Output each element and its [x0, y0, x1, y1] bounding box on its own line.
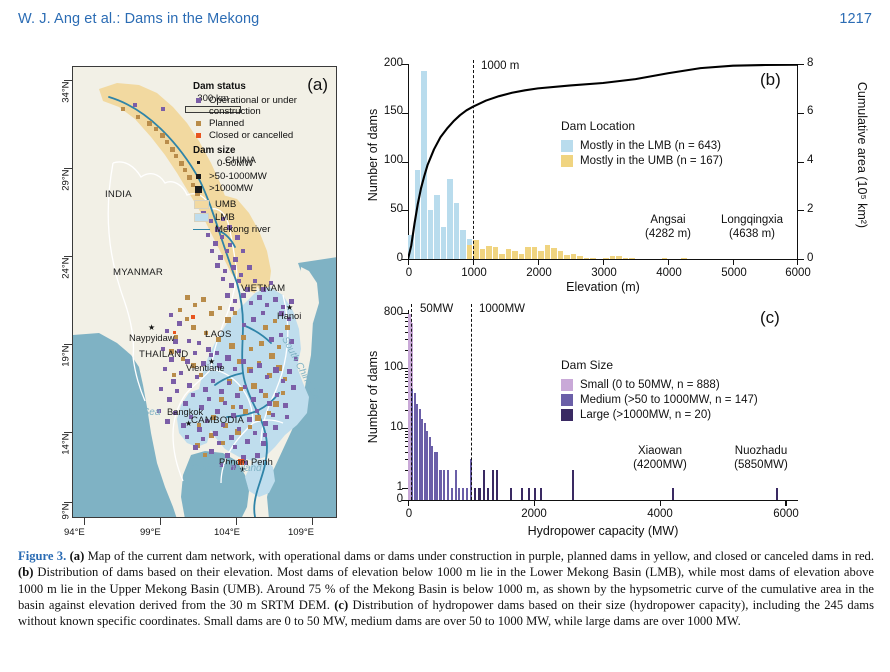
panel-b-ytick-100: 100: [373, 154, 403, 166]
histogram-bar: [572, 470, 574, 500]
panel-c-legend-item-large[interactable]: Large (>1000MW, n = 20): [561, 408, 758, 423]
map-lon-tick-99: 99°E: [140, 527, 161, 538]
annotation-value: (4200MW): [633, 459, 687, 471]
legend-label: Mostly in the UMB (n = 167): [580, 154, 723, 169]
histogram-bar: [487, 488, 489, 500]
histogram-bar: [451, 488, 453, 500]
map-lat-tick-mark: [64, 256, 72, 257]
map-lon-tick-94: 94°E: [64, 527, 85, 538]
panel-b-xtick-2000: 2000: [518, 267, 560, 279]
legend-item-closed[interactable]: Closed or cancelled: [193, 130, 337, 141]
panel-b-y2tick: [798, 162, 804, 163]
map-lon-tick-109: 109°E: [288, 527, 314, 538]
panel-b-plot-area[interactable]: 0 50 100 150 200 0 2 4 6 8 0 1000: [408, 64, 798, 259]
panel-b-annotation-angsai: Angsai (4282 m): [626, 213, 710, 242]
panel-c-refline-label-50mw: 50MW: [420, 302, 453, 316]
panel-b-y2tick: [798, 259, 804, 260]
panel-c-legend-item-medium[interactable]: Medium (>50 to 1000MW, n = 147): [561, 393, 758, 408]
panel-b-tag: (b): [760, 70, 781, 90]
legend-item-lmb[interactable]: LMB: [193, 212, 337, 223]
panel-c-ytick-1: 1: [373, 481, 403, 493]
panel-c-xtick-6000: 6000: [765, 508, 807, 520]
panel-b-ytick-150: 150: [373, 105, 403, 117]
panel-b-xtick-0: 0: [394, 267, 424, 279]
legend-label: Planned: [209, 118, 337, 129]
legend-label: >1000MW: [209, 183, 337, 194]
river-line-icon: [193, 224, 210, 230]
legend-label: UMB: [215, 199, 337, 210]
map-canvas[interactable]: 300 km Dam status Operational or under c…: [72, 66, 337, 518]
panel-b-legend-item-lmb[interactable]: Mostly in the LMB (n = 643): [561, 139, 723, 154]
legend-item-planned[interactable]: Planned: [193, 118, 337, 129]
histogram-bar: [436, 452, 438, 500]
panel-c-ytick-10: 10: [373, 421, 403, 433]
map-lon-tick-mark: [312, 518, 313, 525]
map-lat-tick-mark: [64, 168, 72, 169]
panel-b-y2tick: [798, 64, 804, 65]
city-marker-naypyidaw: ★: [148, 323, 155, 332]
panel-c-xtick: [408, 500, 409, 506]
city-marker-bangkok: ★: [185, 419, 192, 428]
panel-b-y2tick-4: 4: [807, 154, 813, 166]
histogram-bar: [528, 488, 530, 500]
panel-c-legend: Small (0 to 50MW, n = 888) Medium (>50 t…: [561, 378, 758, 423]
panel-c-tag: (c): [760, 308, 780, 328]
histogram-bar: [492, 470, 494, 500]
panel-c-refline-label-1000mw: 1000MW: [479, 302, 525, 316]
panel-c-xtick: [660, 500, 661, 506]
figure-3: 34°N 29°N 24°N 19°N 14°N 9°N 94°E 99°E 1…: [0, 38, 890, 543]
panel-b-annotation-longqingxia: Longqingxia (4638 m): [704, 213, 800, 242]
panel-b-xtick-4000: 4000: [648, 267, 690, 279]
histogram-bar: [458, 488, 460, 500]
panel-b-elevation-chart: Number of dams Cumulative area (10⁵ km²)…: [352, 52, 880, 302]
map-lon-tick-104: 104°E: [214, 527, 240, 538]
histogram-bar: [474, 488, 476, 500]
panel-c-annotation-xiaowan: Xiaowan (4200MW): [620, 444, 700, 473]
legend-item-mekong-river[interactable]: Mekong river: [193, 224, 337, 235]
histogram-bar: [672, 488, 674, 500]
caption-body: (a) Map of the current dam network, with…: [18, 549, 874, 628]
histogram-bar: [521, 488, 523, 500]
panel-b-y2tick-8: 8: [807, 57, 813, 69]
small-square-icon: [193, 158, 204, 164]
histogram-bar: [455, 470, 457, 500]
legend-label: Closed or cancelled: [209, 130, 337, 141]
panel-b-y2label: Cumulative area (10⁵ km²): [855, 65, 869, 245]
lmb-band-icon: [193, 212, 210, 222]
histogram-bar: [439, 470, 441, 500]
histogram-bar: [776, 488, 778, 500]
panel-c-xtick-4000: 4000: [639, 508, 681, 520]
running-head-title: W. J. Ang et al.: Dams in the Mekong: [18, 11, 259, 27]
panel-c-annotation-nuozhadu: Nuozhadu (5850MW): [718, 444, 804, 473]
panel-c-refline-1000mw: [471, 304, 472, 500]
legend-label: Operational or under construction: [209, 95, 337, 118]
panel-b-legend: Mostly in the LMB (n = 643) Mostly in th…: [561, 139, 723, 169]
panel-c-ytick-0: 0: [373, 493, 403, 505]
annotation-value: (4282 m): [645, 228, 691, 240]
panel-c-xaxis: [408, 500, 798, 501]
panel-b-ytick-200: 200: [373, 57, 403, 69]
histogram-bar: [483, 470, 485, 500]
caption-figure-number: Figure 3.: [18, 549, 66, 563]
map-legend: Dam status Operational or under construc…: [193, 81, 337, 236]
panel-c-refline-50mw: [411, 304, 412, 500]
map-label-vietnam: VIETNAM: [241, 283, 285, 294]
panel-c-xtick-0: 0: [394, 508, 424, 520]
panel-b-y2tick-6: 6: [807, 105, 813, 117]
legend-label: >50-1000MW: [209, 171, 337, 182]
map-lat-tick-34: 34°N: [61, 82, 72, 122]
panel-b-xtick-3000: 3000: [583, 267, 625, 279]
map-lat-tick-29: 29°N: [61, 170, 72, 210]
panel-b-y2tick: [798, 210, 804, 211]
map-lat-tick-mark: [64, 502, 72, 503]
purple-square-icon: [193, 95, 204, 103]
panel-a-tag: (a): [307, 75, 328, 95]
histogram-bar: [462, 488, 464, 500]
panel-b-refline-label: 1000 m: [481, 59, 519, 73]
panel-c-plot-area[interactable]: 0 1 10 100 800 0 2000 4000 6000 50MW 10: [408, 310, 798, 500]
map-label-myanmar: MYANMAR: [113, 267, 163, 278]
map-lon-tick-mark: [84, 518, 85, 525]
histogram-bar: [443, 470, 445, 500]
panel-c-xtick: [785, 500, 786, 506]
large-square-icon: [193, 183, 204, 193]
legend-label: LMB: [215, 212, 337, 223]
map-lon-tick-mark: [160, 518, 161, 525]
legend-title-dam-size: Dam size: [193, 145, 337, 157]
panel-c-xtick: [534, 500, 535, 506]
legend-item-operational[interactable]: Operational or under construction: [193, 95, 337, 118]
legend-item-umb[interactable]: UMB: [193, 199, 337, 210]
panel-b-ytick-50: 50: [373, 203, 403, 215]
map-label-thailand: THAILAND: [139, 349, 188, 360]
red-square-icon: [193, 130, 204, 138]
map-label-vientiane: Vientiane: [186, 363, 225, 373]
histogram-bar: [478, 488, 480, 500]
panel-c-xtick-2000: 2000: [513, 508, 555, 520]
panel-b-ytick-0: 0: [373, 252, 403, 264]
annotation-name: Longqingxia: [721, 214, 783, 226]
panel-b-xtick-1000: 1000: [453, 267, 495, 279]
panel-b-legend-item-umb[interactable]: Mostly in the UMB (n = 167): [561, 154, 723, 169]
map-lon-tick-mark: [236, 518, 237, 525]
histogram-bar: [447, 470, 449, 500]
panel-a-map: 34°N 29°N 24°N 19°N 14°N 9°N 94°E 99°E 1…: [32, 58, 352, 538]
panel-b-y2tick-2: 2: [807, 203, 813, 215]
map-lat-tick-19: 19°N: [61, 346, 72, 386]
map-label-andaman-sea: Andaman Sea: [97, 407, 160, 419]
map-label-laos: LAOS: [205, 329, 232, 340]
running-head: W. J. Ang et al.: Dams in the Mekong 121…: [18, 8, 872, 30]
panel-c-ylabel: Number of dams: [366, 332, 380, 462]
panel-c-xlabel: Hydropower capacity (MW): [408, 524, 798, 538]
annotation-value: (5850MW): [734, 459, 788, 471]
map-lat-tick-mark: [64, 432, 72, 433]
annotation-name: Angsai: [650, 214, 685, 226]
panel-c-capacity-chart: Number of dams Hydropower capacity (MW) …: [352, 296, 880, 541]
map-lat-tick-mark: [64, 80, 72, 81]
panel-b-xlabel: Elevation (m): [408, 280, 798, 294]
histogram-bar: [540, 488, 542, 500]
map-lat-tick-14: 14°N: [61, 434, 72, 474]
medium-square-icon: [193, 171, 204, 179]
map-label-india: INDIA: [105, 189, 132, 200]
sea-label-text: Andaman Sea: [97, 407, 160, 418]
map-label-hanoi: Hanoi: [277, 311, 301, 321]
panel-c-ytick-100: 100: [373, 361, 403, 373]
figure-caption: Figure 3. (a) Map of the current dam net…: [18, 548, 874, 630]
histogram-bar: [510, 488, 512, 500]
umb-color-chip: [561, 155, 573, 167]
histogram-bar: [496, 470, 498, 500]
histogram-bar: [466, 488, 468, 500]
legend-label: Small (0 to 50MW, n = 888): [580, 378, 720, 393]
lmb-color-chip: [561, 140, 573, 152]
medium-color-chip: [561, 394, 573, 406]
legend-label: Medium (>50 to 1000MW, n = 147): [580, 393, 758, 408]
legend-item-size-large[interactable]: >1000MW: [193, 183, 337, 194]
annotation-name: Xiaowan: [638, 445, 682, 457]
histogram-bar: [534, 488, 536, 500]
panel-b-xtick-5000: 5000: [713, 267, 755, 279]
panel-c-legend-title: Dam Size: [561, 358, 613, 372]
panel-c-legend-item-small[interactable]: Small (0 to 50MW, n = 888): [561, 378, 758, 393]
panel-c-ytick-800: 800: [368, 306, 403, 318]
umb-band-icon: [193, 199, 210, 209]
panel-b-y2tick-0: 0: [807, 252, 813, 264]
small-color-chip: [561, 379, 573, 391]
panel-b-refline-1000m: [473, 60, 474, 259]
annotation-name: Nuozhadu: [735, 445, 787, 457]
legend-label: Large (>1000MW, n = 20): [580, 408, 711, 423]
map-lat-tick-24: 24°N: [61, 258, 72, 298]
annotation-value: (4638 m): [729, 228, 775, 240]
tan-square-icon: [193, 118, 204, 126]
legend-label: Mostly in the LMB (n = 643): [580, 139, 721, 154]
map-label-gulf-of-thailand: Gulf of Thailand: [191, 463, 262, 475]
panel-b-xtick-6000: 6000: [777, 267, 819, 279]
map-label-naypyidaw: Naypyidaw: [129, 333, 174, 343]
map-lat-tick-mark: [64, 344, 72, 345]
large-color-chip: [561, 409, 573, 421]
legend-item-size-small[interactable]: 0-50MW: [193, 158, 337, 169]
sea-label-text: Gulf of Thailand: [191, 463, 262, 474]
page-number: 1217: [839, 11, 872, 27]
panel-b-legend-title: Dam Location: [561, 119, 635, 133]
legend-label: Mekong river: [215, 224, 337, 235]
legend-item-size-medium[interactable]: >50-1000MW: [193, 171, 337, 182]
map-label-bangkok: Bangkok: [167, 407, 203, 417]
map-label-china: CHINA: [225, 155, 256, 166]
panel-b-y2tick: [798, 113, 804, 114]
